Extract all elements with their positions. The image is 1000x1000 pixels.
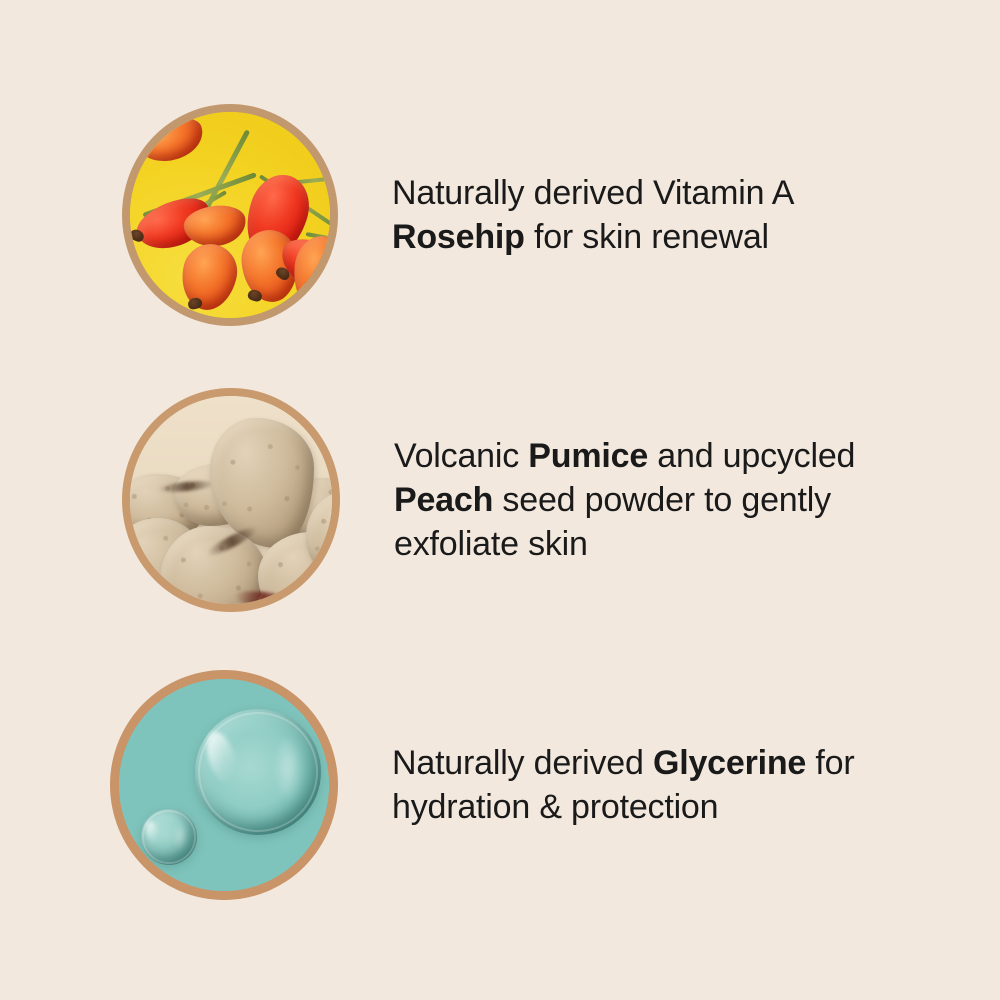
pumice-scene — [130, 396, 332, 604]
glycerine-scene — [119, 679, 329, 891]
droplet-soft-highlight — [273, 733, 303, 803]
benefit-row-rosehip: Naturally derived Vitamin A Rosehip for … — [0, 104, 1000, 326]
benefit-text-glycerine: Naturally derived Glycerine for hydratio… — [392, 741, 912, 829]
rosehip-scene — [130, 112, 330, 318]
benefit-text-highlight: Pumice — [528, 437, 648, 475]
benefit-text-segment: and upcycled — [648, 437, 855, 475]
benefit-text-segment: Naturally derived Vitamin A — [392, 174, 792, 212]
benefit-text-highlight: Rosehip — [392, 218, 525, 256]
benefit-row-glycerine: Naturally derived Glycerine for hydratio… — [0, 670, 1000, 900]
glycerine-image-circle — [110, 670, 338, 900]
pumice-image-circle — [122, 388, 340, 612]
benefit-text-segment: Volcanic — [394, 437, 528, 475]
benefit-text-segment: Naturally derived — [392, 744, 653, 782]
benefit-text-highlight: Peach — [394, 481, 493, 519]
rosehip-image-circle — [122, 104, 338, 326]
droplet-soft-highlight — [173, 821, 187, 851]
glycerine-droplet-large — [195, 709, 321, 835]
ingredient-benefits-infographic: Naturally derived Vitamin A Rosehip for … — [0, 0, 1000, 1000]
benefit-text-pumice: Volcanic Pumice and upcycled Peach seed … — [394, 434, 914, 566]
benefit-row-pumice: Volcanic Pumice and upcycled Peach seed … — [0, 388, 1000, 612]
benefit-text-rosehip: Naturally derived Vitamin A Rosehip for … — [392, 171, 912, 259]
glycerine-droplet-small — [141, 809, 197, 865]
benefit-text-highlight: Glycerine — [653, 744, 806, 782]
benefit-text-segment: for skin renewal — [525, 218, 769, 256]
